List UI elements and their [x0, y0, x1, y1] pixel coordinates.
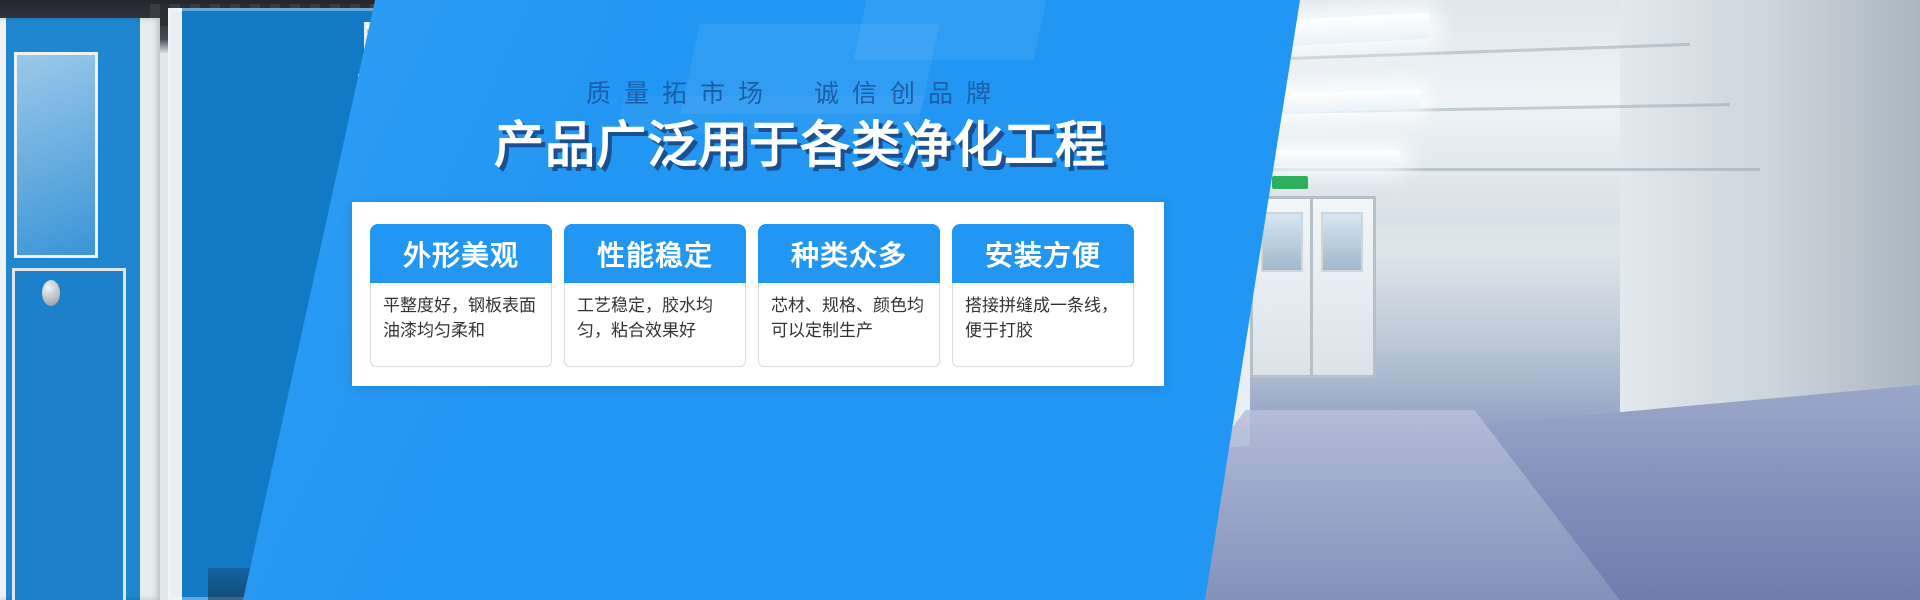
feature-card-1-text: 平整度好，钢板表面油漆均匀柔和 — [370, 283, 552, 367]
feature-card-4-title: 安装方便 — [952, 224, 1134, 283]
cabin-a-window — [14, 52, 98, 258]
feature-card-2-text: 工艺稳定，胶水均匀，粘合效果好 — [564, 283, 746, 367]
cleanroom-door-b-window — [1321, 212, 1363, 272]
banner-headline: 产品广泛用于各类净化工程 — [490, 114, 1110, 176]
feature-card-2-title: 性能稳定 — [564, 224, 746, 283]
cabin-a-door — [12, 268, 126, 600]
feature-card-1-title: 外形美观 — [370, 224, 552, 283]
feature-card-1[interactable]: 外形美观 平整度好，钢板表面油漆均匀柔和 — [370, 224, 552, 367]
promo-banner: 质量拓市场 诚信创品牌 产品广泛用于各类净化工程 外形美观 平整度好，钢板表面油… — [0, 0, 1920, 600]
ceiling-light — [1270, 150, 1400, 166]
cabin-a-handle — [42, 280, 60, 306]
feature-cards-panel: 外形美观 平整度好，钢板表面油漆均匀柔和 性能稳定 工艺稳定，胶水均匀，粘合效果… — [352, 202, 1164, 386]
banner-tagline: 质量拓市场 诚信创品牌 — [505, 74, 1085, 110]
feature-card-3-title: 种类众多 — [758, 224, 940, 283]
cabin-unit-a — [0, 18, 160, 600]
feature-card-2[interactable]: 性能稳定 工艺稳定，胶水均匀，粘合效果好 — [564, 224, 746, 367]
feature-card-3-text: 芯材、规格、颜色均可以定制生产 — [758, 283, 940, 367]
wall-sign — [1152, 101, 1214, 144]
cleanroom-door-a-window — [1261, 212, 1303, 272]
exit-sign-icon — [1272, 176, 1308, 189]
feature-card-4[interactable]: 安装方便 搭接拼缝成一条线，便于打胶 — [952, 224, 1134, 367]
ceiling-seam — [1160, 168, 1760, 171]
feature-card-4-text: 搭接拼缝成一条线，便于打胶 — [952, 283, 1134, 367]
feature-card-3[interactable]: 种类众多 芯材、规格、颜色均可以定制生产 — [758, 224, 940, 367]
fire-extinguisher-icon — [1198, 336, 1212, 354]
